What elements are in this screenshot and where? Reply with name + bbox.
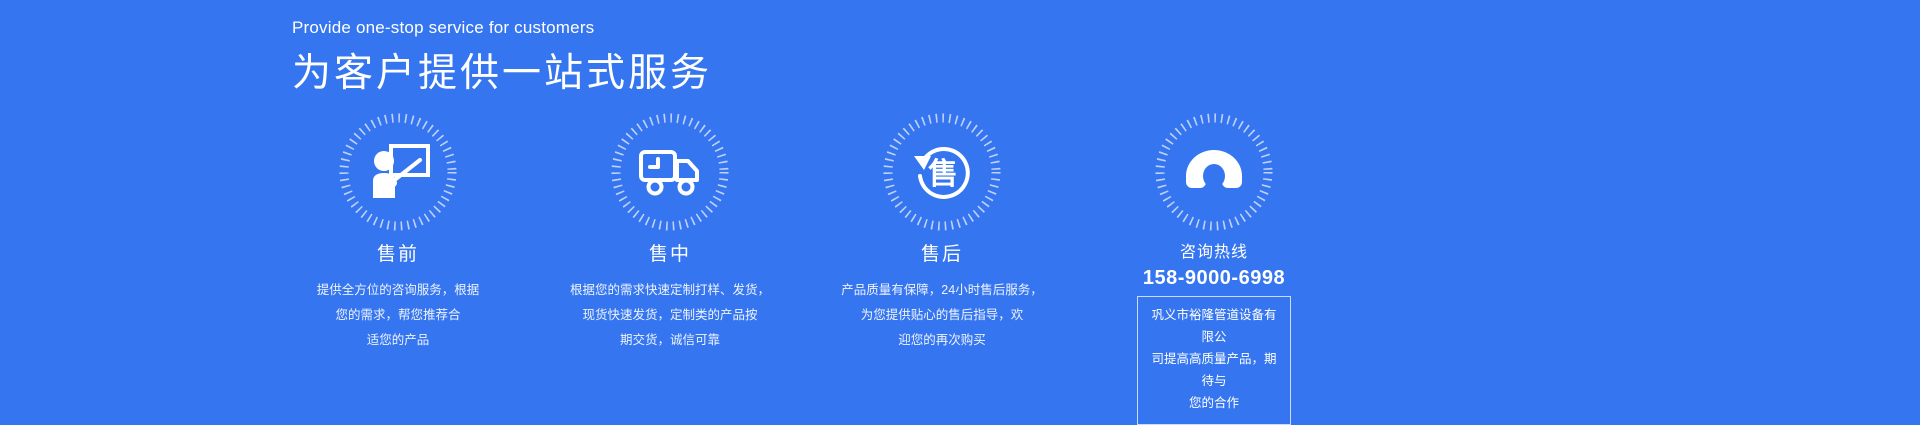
banner-title: 为客户提供一站式服务 [292, 50, 712, 99]
column-description: 提供全方位的咨询服务，根据 您的需求，帮您推荐合 适您的产品 [293, 278, 503, 353]
column-title: 售中 [649, 242, 691, 269]
service-columns: 售前 提供全方位的咨询服务，根据 您的需求，帮您推荐合 适您的产品 [260, 110, 1660, 425]
after-sales-refresh-icon: 售 [909, 142, 975, 202]
column-title: 售后 [921, 242, 963, 269]
desc-line: 现货快速发货，定制类的产品按 [565, 303, 775, 328]
company-note-line: 司提高高质量产品，期待与 [1148, 349, 1280, 393]
column-title: 售前 [377, 242, 419, 269]
icon-ring-wrap [608, 110, 732, 234]
desc-line: 迎您的再次购买 [837, 328, 1047, 353]
svg-text:售: 售 [928, 158, 958, 191]
service-banner: Provide one-stop service for customers 为… [0, 0, 1920, 413]
desc-line: 适您的产品 [293, 328, 503, 353]
service-column-insale[interactable]: 售中 根据您的需求快速定制打样、发货， 现货快速发货，定制类的产品按 期交货，诚… [532, 110, 808, 425]
service-column-hotline[interactable]: 咨询热线 158-9000-6998 巩义市裕隆管道设备有限公 司提高高质量产品… [1076, 110, 1352, 425]
hotline-number[interactable]: 158-9000-6998 [1143, 266, 1285, 290]
company-note-box: 巩义市裕隆管道设备有限公 司提高高质量产品，期待与 您的合作 [1137, 296, 1291, 424]
desc-line: 根据您的需求快速定制打样、发货， [565, 278, 775, 303]
banner-eyebrow: Provide one-stop service for customers [292, 18, 712, 38]
heading-block: Provide one-stop service for customers 为… [292, 18, 712, 99]
desc-line: 提供全方位的咨询服务，根据 [293, 278, 503, 303]
icon-ring-wrap [336, 110, 460, 234]
icon-ring-wrap [1152, 110, 1276, 234]
presenter-whiteboard-icon [365, 142, 431, 202]
desc-line: 为您提供贴心的售后指导，欢 [837, 303, 1047, 328]
column-description: 产品质量有保障，24小时售后服务， 为您提供贴心的售后指导，欢 迎您的再次购买 [837, 278, 1047, 353]
desc-line: 您的需求，帮您推荐合 [293, 303, 503, 328]
company-note-line: 您的合作 [1148, 393, 1280, 415]
service-column-aftersale[interactable]: 售 售后 产品质量有保障，24小时售后服务， 为您提供贴心的售后指导，欢 迎您的… [804, 110, 1080, 425]
telephone-icon [1181, 142, 1247, 202]
service-column-presale[interactable]: 售前 提供全方位的咨询服务，根据 您的需求，帮您推荐合 适您的产品 [260, 110, 536, 425]
icon-ring-wrap: 售 [880, 110, 1004, 234]
company-note-line: 巩义市裕隆管道设备有限公 [1148, 305, 1280, 349]
column-description: 根据您的需求快速定制打样、发货， 现货快速发货，定制类的产品按 期交货，诚信可靠 [565, 278, 775, 353]
desc-line: 期交货，诚信可靠 [565, 328, 775, 353]
hotline-label: 咨询热线 [1180, 242, 1248, 264]
delivery-truck-clock-icon [637, 142, 703, 202]
desc-line: 产品质量有保障，24小时售后服务， [837, 278, 1047, 303]
